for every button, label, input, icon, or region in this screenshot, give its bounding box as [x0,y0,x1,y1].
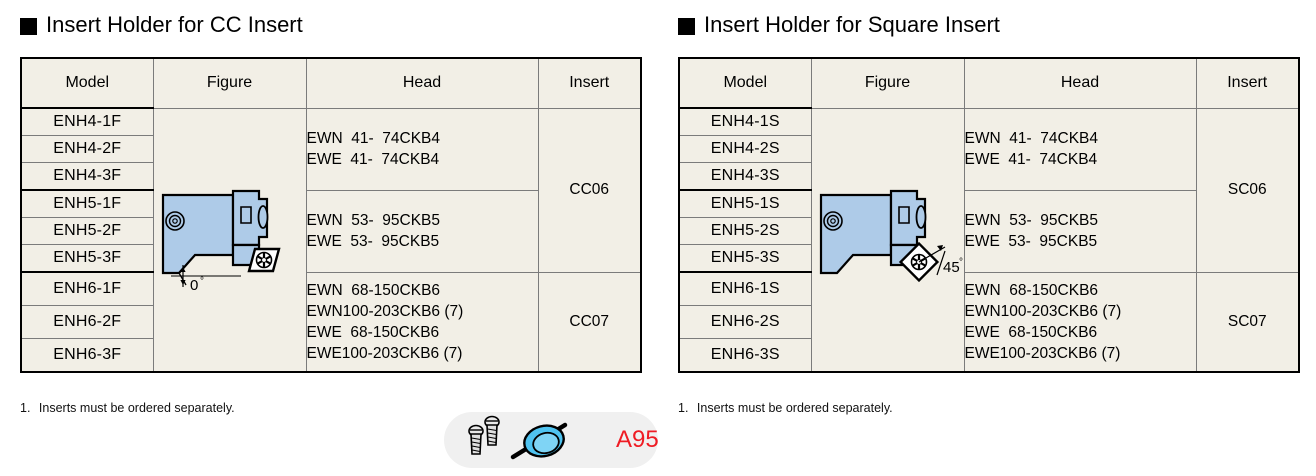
model-cell: ENH6-3S [679,339,811,373]
model-cell: ENH6-2S [679,306,811,339]
model-cell: ENH4-2F [21,136,153,163]
model-cell: ENH4-3S [679,163,811,191]
model-cell: ENH4-2S [679,136,811,163]
panel-title-text: Insert Holder for CC Insert [46,12,303,38]
screw-icon [469,426,483,455]
insert-cell: CC07 [538,272,641,372]
figure-angle-value: 45 [943,259,960,276]
panel-title: Insert Holder for CC Insert [20,12,303,38]
figure-angle-unit: ° [959,257,963,268]
panel-square-insert: Insert Holder for Square Insert Model Fi… [658,0,1316,476]
head-cell: EWN 53- 95CKB5 EWE 53- 95CKB5 [964,190,1196,272]
model-cell: ENH6-1F [21,272,153,306]
head-cell: EWN 41- 74CKB4 EWE 41- 74CKB4 [964,108,1196,190]
model-cell: ENH5-2S [679,218,811,245]
spec-table: Model Figure Head Insert ENH4-1S [678,57,1300,373]
accessory-code: A95 [616,426,659,454]
footnote-text: Inserts must be ordered separately. [39,401,235,415]
column-header-insert: Insert [538,58,641,108]
head-cell: EWN 41- 74CKB4 EWE 41- 74CKB4 [306,108,538,190]
figure-cell: 45 ° [811,108,964,372]
model-cell: ENH6-3F [21,339,153,373]
model-cell: ENH4-3F [21,163,153,191]
screw-icon [485,417,499,446]
model-cell: ENH5-1S [679,190,811,218]
footnote-number: 1. [678,401,688,415]
model-cell: ENH5-1F [21,190,153,218]
table-header-row: Model Figure Head Insert [21,58,641,108]
column-header-model: Model [679,58,811,108]
footnote: 1. Inserts must be ordered separately. [678,400,893,416]
model-cell: ENH4-1S [679,108,811,136]
table-row: ENH6-1S EWN 68-150CKB6 EWN100-203CKB6 (7… [679,272,1299,306]
wrench-icon [513,421,567,460]
model-cell: ENH5-2F [21,218,153,245]
footnote: 1. Inserts must be ordered separately. [20,400,235,416]
accessory-badge: A95 [444,412,658,468]
column-header-insert: Insert [1196,58,1299,108]
insert-cell: CC06 [538,108,641,272]
tool-holder-figure-icon: 45 ° [813,177,963,297]
accessory-tools-icon [460,414,610,466]
spec-table: Model Figure Head Insert ENH4-1F [20,57,642,373]
column-header-model: Model [21,58,153,108]
figure-angle-unit: ° [200,276,204,287]
black-square-icon [678,18,695,35]
model-cell: ENH4-1F [21,108,153,136]
head-cell: EWN 68-150CKB6 EWN100-203CKB6 (7) EWE 68… [306,272,538,372]
head-cell: EWN 53- 95CKB5 EWE 53- 95CKB5 [306,190,538,272]
tool-holder-figure-icon: 0 ° [155,177,305,297]
panel-title-text: Insert Holder for Square Insert [704,12,1000,38]
insert-cell: SC06 [1196,108,1299,272]
model-cell: ENH5-3S [679,245,811,273]
column-header-figure: Figure [153,58,306,108]
figure-angle-value: 0 [190,277,198,294]
black-square-icon [20,18,37,35]
column-header-head: Head [964,58,1196,108]
panel-title: Insert Holder for Square Insert [678,12,1000,38]
panel-cc-insert: Insert Holder for CC Insert Model Figure… [0,0,658,476]
table-row: ENH6-1F EWN 68-150CKB6 EWN100-203CKB6 (7… [21,272,641,306]
footnote-number: 1. [20,401,30,415]
column-header-head: Head [306,58,538,108]
footnote-text: Inserts must be ordered separately. [697,401,893,415]
column-header-figure: Figure [811,58,964,108]
model-cell: ENH5-3F [21,245,153,273]
table-row: ENH4-1S [679,108,1299,136]
model-cell: ENH6-2F [21,306,153,339]
table-row: ENH4-1F [21,108,641,136]
model-cell: ENH6-1S [679,272,811,306]
figure-cell: 0 ° [153,108,306,372]
insert-cell: SC07 [1196,272,1299,372]
table-header-row: Model Figure Head Insert [679,58,1299,108]
head-cell: EWN 68-150CKB6 EWN100-203CKB6 (7) EWE 68… [964,272,1196,372]
